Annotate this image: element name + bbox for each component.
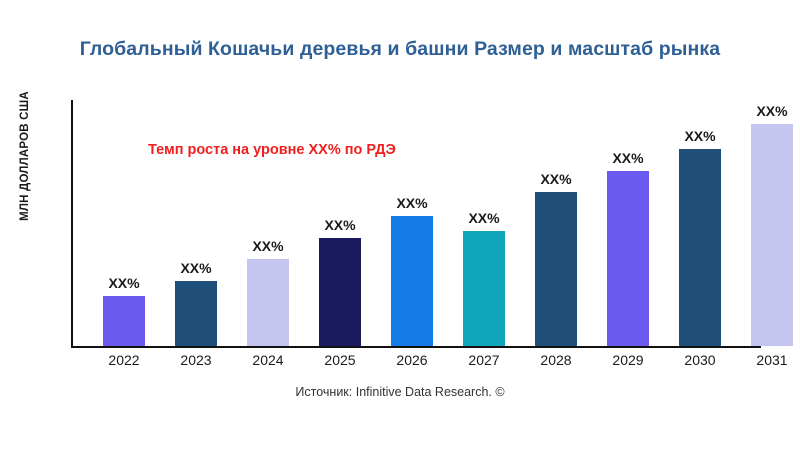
bar-value-label-2024: XX%	[234, 238, 302, 254]
chart-title: Глобальный Кошачьи деревья и башни Разме…	[0, 38, 800, 61]
x-tick-label-2027: 2027	[450, 352, 518, 368]
x-tick-label-2024: 2024	[234, 352, 302, 368]
y-axis-title: МЛН ДОЛЛАРОВ США	[19, 46, 31, 266]
x-tick-label-2026: 2026	[378, 352, 446, 368]
x-axis-line	[71, 346, 761, 348]
bar-rect-2024[interactable]	[247, 259, 289, 346]
bar-rect-2026[interactable]	[391, 216, 433, 346]
bar-2025[interactable]: XX%	[319, 238, 361, 346]
bar-2022[interactable]: XX%	[103, 296, 145, 346]
plot-area: XX%2022XX%2023XX%2024XX%2025XX%2026XX%20…	[71, 100, 787, 348]
bar-2030[interactable]: XX%	[679, 149, 721, 346]
bar-2028[interactable]: XX%	[535, 192, 577, 346]
bar-2026[interactable]: XX%	[391, 216, 433, 346]
bar-rect-2029[interactable]	[607, 171, 649, 346]
bar-rect-2031[interactable]	[751, 124, 793, 346]
bar-2023[interactable]: XX%	[175, 281, 217, 346]
x-tick-label-2028: 2028	[522, 352, 590, 368]
bar-2024[interactable]: XX%	[247, 259, 289, 346]
bar-value-label-2025: XX%	[306, 217, 374, 233]
bar-value-label-2026: XX%	[378, 195, 446, 211]
bar-rect-2023[interactable]	[175, 281, 217, 346]
bar-rect-2027[interactable]	[463, 231, 505, 346]
bar-value-label-2028: XX%	[522, 171, 590, 187]
bar-2031[interactable]: XX%	[751, 124, 793, 346]
bar-2027[interactable]: XX%	[463, 231, 505, 346]
bar-value-label-2029: XX%	[594, 150, 662, 166]
bar-value-label-2022: XX%	[90, 275, 158, 291]
bar-rect-2030[interactable]	[679, 149, 721, 346]
bar-value-label-2030: XX%	[666, 128, 734, 144]
bar-2029[interactable]: XX%	[607, 171, 649, 346]
x-tick-label-2029: 2029	[594, 352, 662, 368]
x-tick-label-2031: 2031	[738, 352, 800, 368]
bar-chart: Глобальный Кошачьи деревья и башни Разме…	[0, 0, 800, 450]
bar-rect-2028[interactable]	[535, 192, 577, 346]
source-note: Источник: Infinitive Data Research. ©	[0, 385, 800, 399]
bar-value-label-2027: XX%	[450, 210, 518, 226]
bar-rect-2025[interactable]	[319, 238, 361, 346]
bar-value-label-2023: XX%	[162, 260, 230, 276]
x-tick-label-2023: 2023	[162, 352, 230, 368]
y-axis-line	[71, 100, 73, 348]
x-tick-label-2025: 2025	[306, 352, 374, 368]
x-tick-label-2030: 2030	[666, 352, 734, 368]
bar-rect-2022[interactable]	[103, 296, 145, 346]
bar-value-label-2031: XX%	[738, 103, 800, 119]
x-tick-label-2022: 2022	[90, 352, 158, 368]
